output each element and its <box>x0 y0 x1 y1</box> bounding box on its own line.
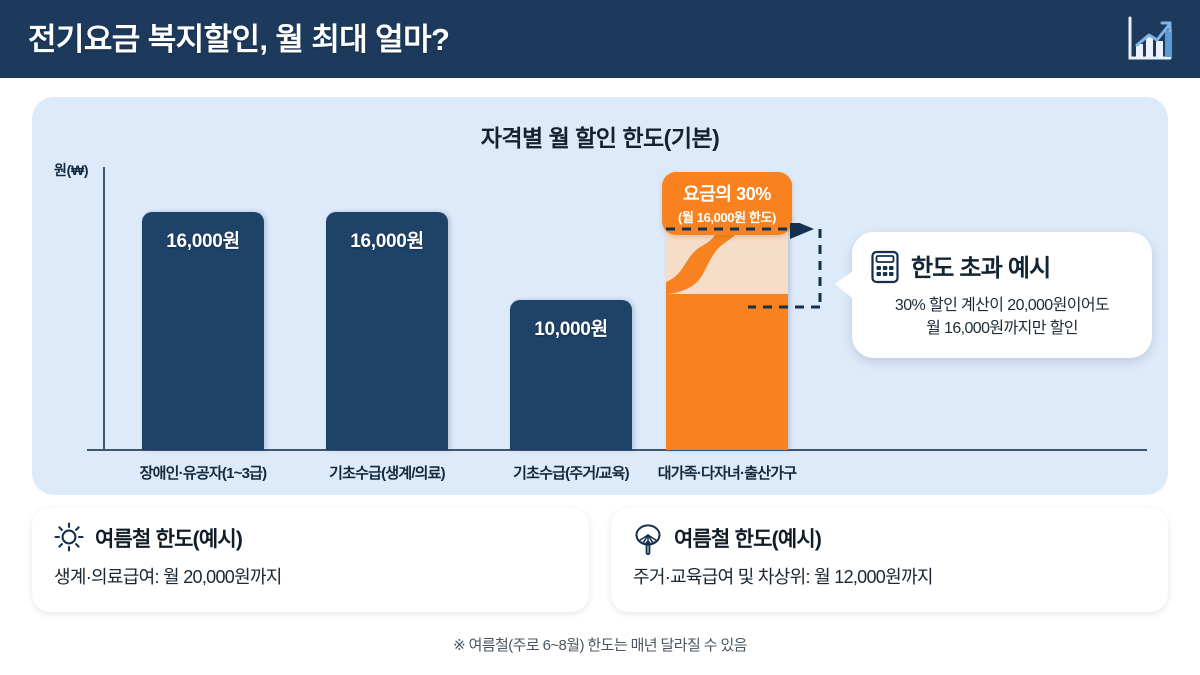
callout-body-line-1: 30% 할인 계산이 20,000원이어도 <box>870 294 1134 317</box>
summer-limit-card-basic: 여름철 한도(예시) 생계·의료급여: 월 20,000원까지 <box>32 508 589 612</box>
hand-fan-icon <box>633 522 663 554</box>
bar-group-1: 16,000원 장애인·유공자(1~3급) <box>142 212 264 450</box>
callout-body-line-2: 월 16,000원까지만 할인 <box>870 317 1134 340</box>
card-title-1: 여름철 한도(예시) <box>95 523 242 553</box>
footnote: ※ 여름철(주로 6~8월) 한도는 매년 달라질 수 있음 <box>0 634 1200 655</box>
limit-exceeded-callout: 한도 초과 예시 30% 할인 계산이 20,000원이어도 월 16,000원… <box>852 232 1152 358</box>
orange-pill-line-1: 요금의 30% <box>678 180 776 206</box>
callout-body: 30% 할인 계산이 20,000원이어도 월 16,000원까지만 할인 <box>870 294 1134 340</box>
card-title-2: 여름철 한도(예시) <box>674 523 821 553</box>
sun-icon <box>54 522 84 554</box>
page-header: 전기요금 복지할인, 월 최대 얼마? <box>0 0 1200 78</box>
callout-title: 한도 초과 예시 <box>911 248 1050 283</box>
calculator-icon <box>870 250 900 282</box>
bar-3[interactable]: 10,000원 <box>510 300 632 450</box>
summary-cards: 여름철 한도(예시) 생계·의료급여: 월 20,000원까지 <box>32 508 1168 612</box>
card-header-2: 여름철 한도(예시) <box>633 522 1146 554</box>
bar-chart-growth-icon <box>1122 13 1174 65</box>
x-axis-label-4: 대가족·다자녀·출산가구 <box>658 462 796 483</box>
x-axis-label-1: 장애인·유공자(1~3급) <box>140 462 267 483</box>
callout-tail <box>835 268 857 302</box>
infographic-page: 전기요금 복지할인, 월 최대 얼마? 자격별 월 할인 한도(기본) 원(₩)… <box>0 0 1200 675</box>
callout-header: 한도 초과 예시 <box>870 248 1134 283</box>
bar-group-2: 16,000원 기초수급(생계/의료) <box>326 212 448 450</box>
bar-3-value: 10,000원 <box>510 314 632 341</box>
card-header-1: 여름철 한도(예시) <box>54 522 567 554</box>
card-text-1: 생계·의료급여: 월 20,000원까지 <box>54 563 567 589</box>
page-title: 전기요금 복지할인, 월 최대 얼마? <box>28 24 449 55</box>
bar-2-value: 16,000원 <box>326 226 448 253</box>
bar-2[interactable]: 16,000원 <box>326 212 448 450</box>
bar-group-3: 10,000원 기초수급(주거/교육) <box>510 300 632 450</box>
limit-dimension-bracket <box>660 223 830 315</box>
bar-1-value: 16,000원 <box>142 226 264 253</box>
summer-limit-card-housing: 여름철 한도(예시) 주거·교육급여 및 차상위: 월 12,000원까지 <box>611 508 1168 612</box>
x-axis-label-2: 기초수급(생계/의료) <box>329 462 445 483</box>
card-text-2: 주거·교육급여 및 차상위: 월 12,000원까지 <box>633 563 1146 589</box>
bar-1[interactable]: 16,000원 <box>142 212 264 450</box>
x-axis-label-3: 기초수급(주거/교육) <box>513 462 629 483</box>
